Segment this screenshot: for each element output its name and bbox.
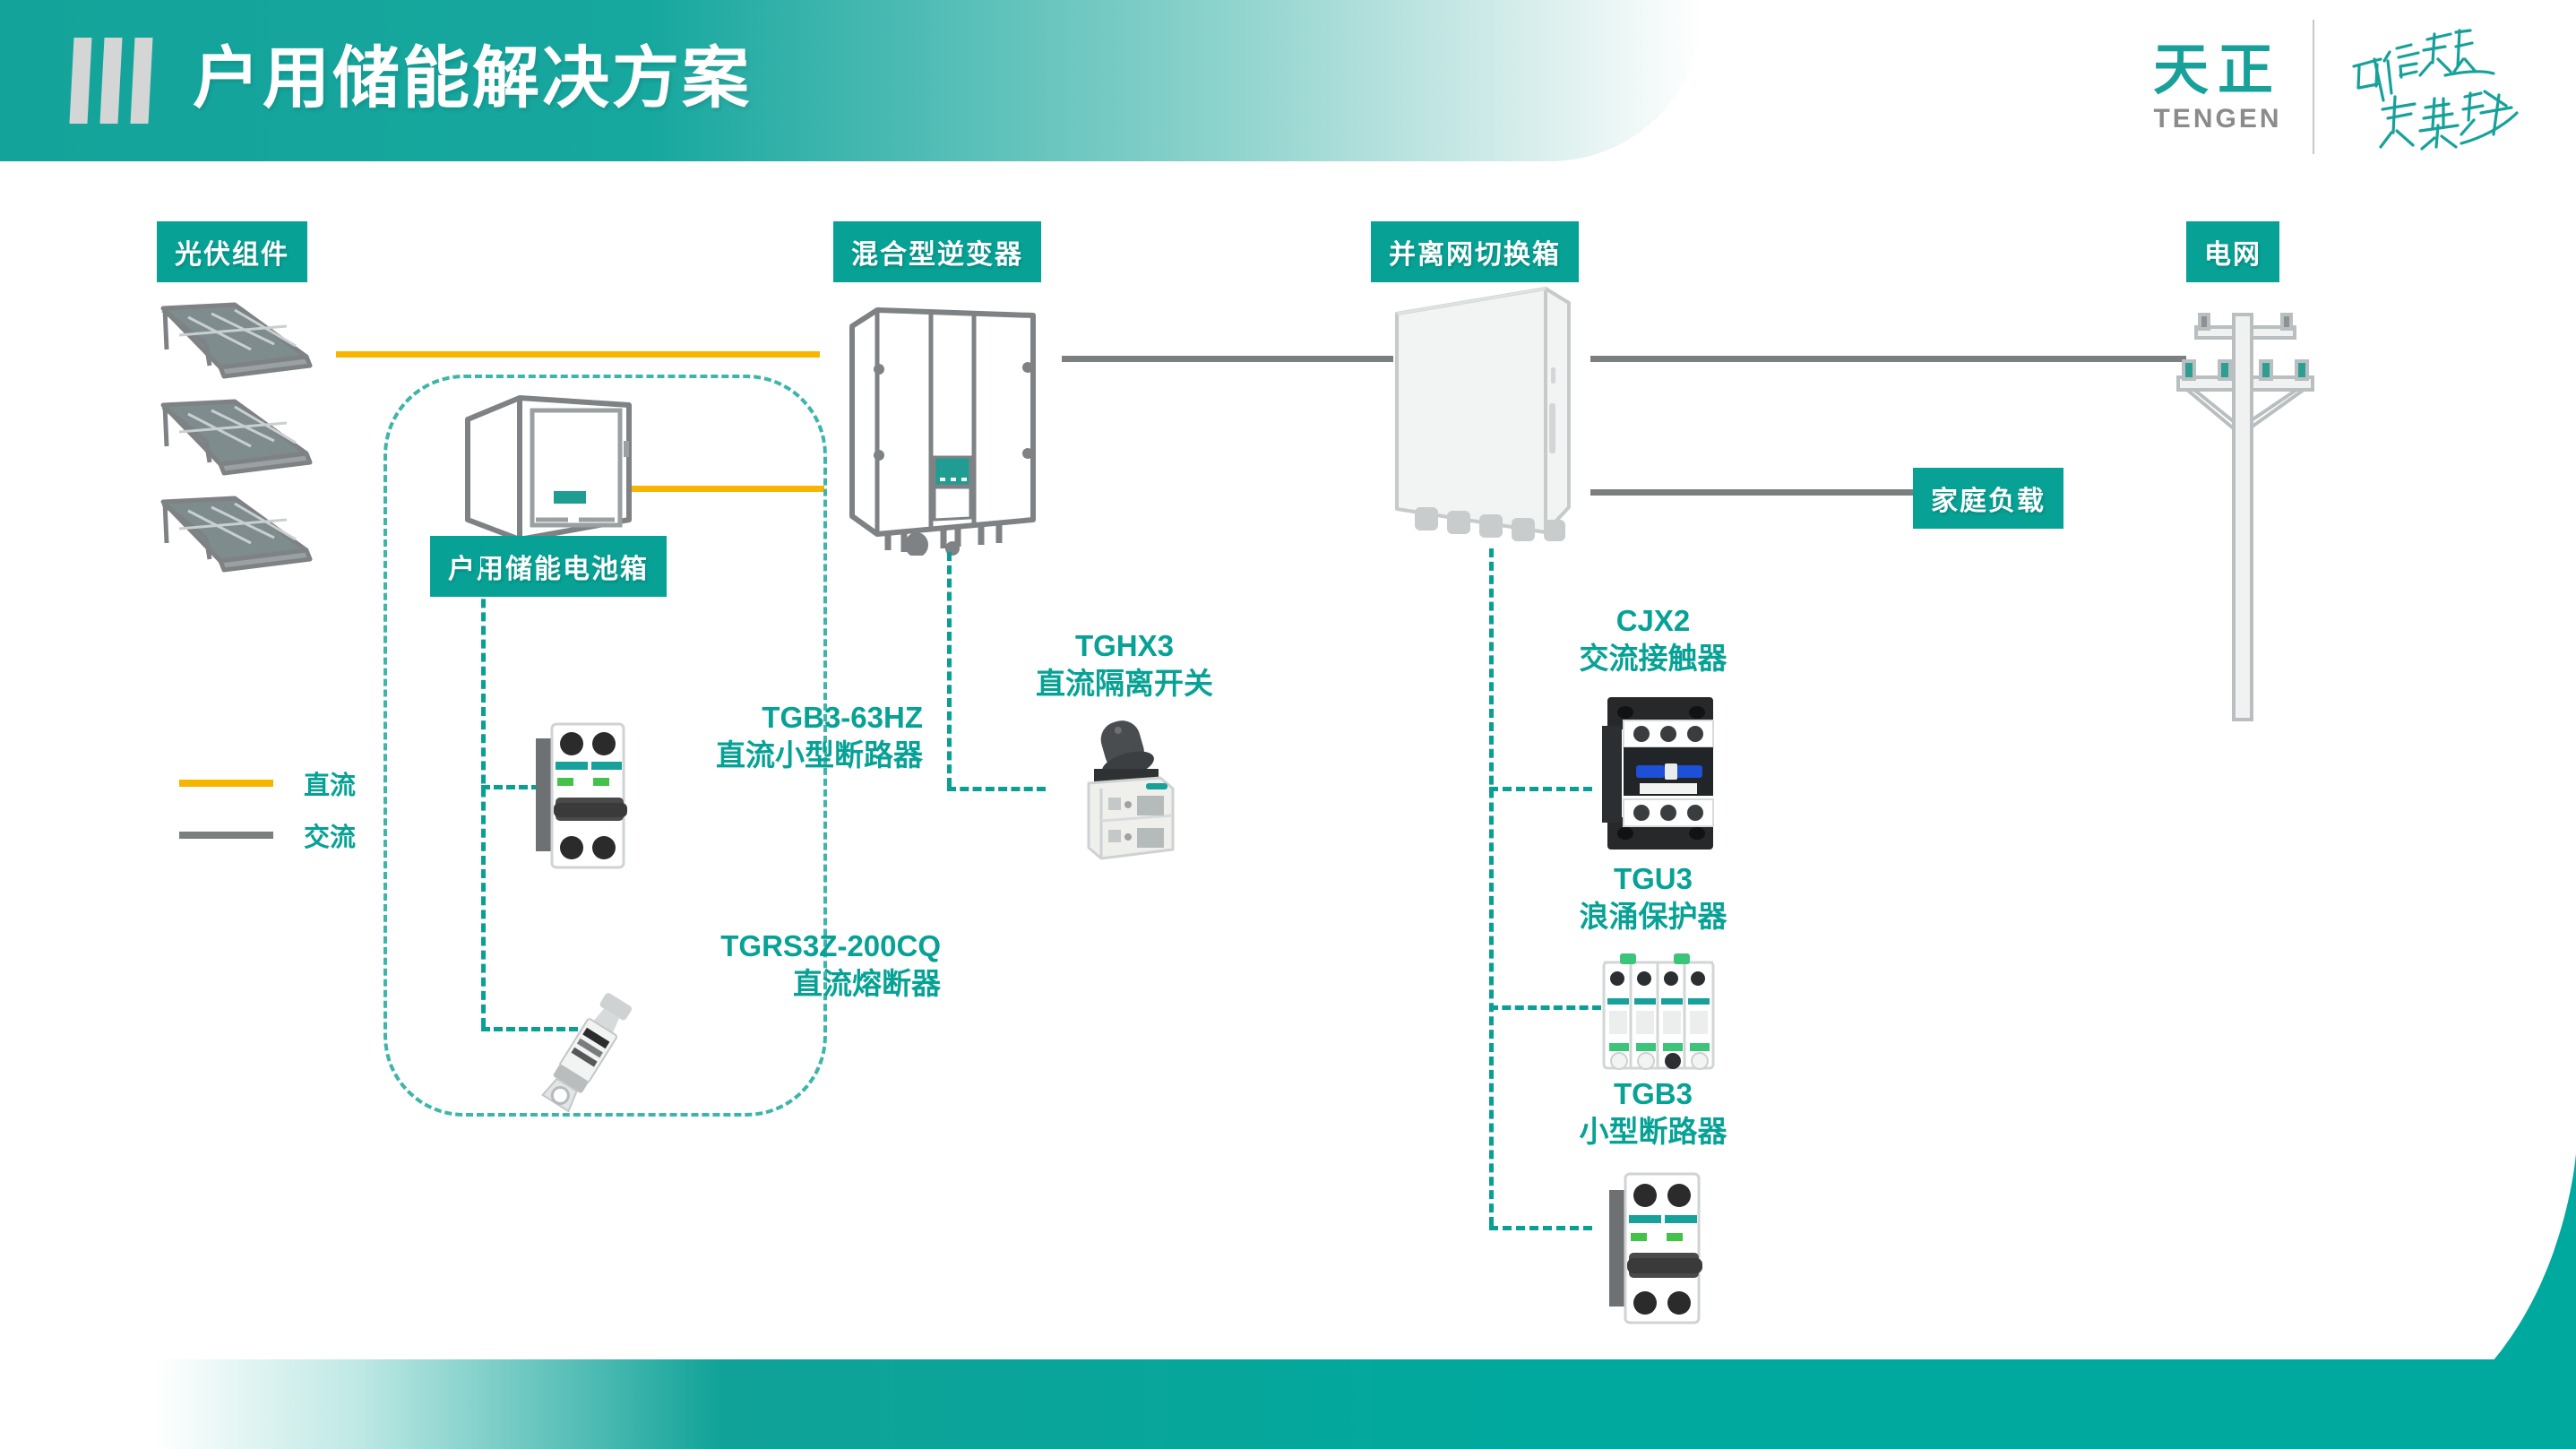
dc-line-pv-to-battery bbox=[336, 351, 820, 358]
switchbox-branch-tgu3 bbox=[1489, 1005, 1601, 1010]
ac-contactor-icon bbox=[1586, 690, 1729, 856]
stage-label-inverter: 混合型逆变器 bbox=[833, 221, 1041, 282]
ac-line-switchbox-to-load bbox=[1590, 489, 1913, 496]
component-tghx3: TGHX3 直流隔离开关 bbox=[977, 627, 1272, 703]
component-name-tgu3: 浪涌保护器 bbox=[1505, 898, 1801, 936]
legend-label-ac: 交流 bbox=[304, 816, 356, 854]
footer-curve-decoration bbox=[2307, 1153, 2576, 1449]
utility-pole-icon bbox=[2164, 291, 2325, 721]
page-title: 户用储能解决方案 bbox=[193, 29, 752, 127]
dc-fuse-icon bbox=[529, 981, 645, 1125]
legend: 直流 交流 bbox=[179, 757, 356, 861]
mcb-dc-icon bbox=[529, 715, 634, 876]
three-bars-icon bbox=[72, 38, 151, 124]
component-tgu3: TGU3 浪涌保护器 bbox=[1505, 860, 1801, 936]
inverter-branch-trunk bbox=[947, 552, 952, 787]
switchbox-branch-trunk bbox=[1489, 548, 1494, 1226]
legend-item-ac: 交流 bbox=[179, 809, 356, 861]
stage-label-load: 家庭负载 bbox=[1913, 468, 2063, 529]
component-model-cjx2: CJX2 bbox=[1505, 602, 1801, 640]
battery-cabinet-icon bbox=[457, 385, 636, 547]
component-name-cjx2: 交流接触器 bbox=[1505, 640, 1801, 677]
component-tgb3: TGB3 小型断路器 bbox=[1505, 1075, 1801, 1151]
logo-lockup: 天正 TENGEN bbox=[2153, 39, 2282, 134]
stage-label-grid: 电网 bbox=[2186, 221, 2279, 282]
component-model-tghx3: TGHX3 bbox=[977, 627, 1272, 665]
switchbox-branch-cjx2 bbox=[1489, 787, 1592, 791]
stage-label-switchbox: 并离网切换箱 bbox=[1371, 221, 1579, 282]
component-model-tgb3: TGB3 bbox=[1505, 1075, 1801, 1113]
legend-label-dc: 直流 bbox=[304, 764, 356, 802]
legend-swatch-dc bbox=[179, 780, 273, 787]
component-name-tghx3: 直流隔离开关 bbox=[977, 665, 1272, 703]
brand-logo: 天正 TENGEN bbox=[2153, 20, 2524, 154]
logo-divider bbox=[2313, 20, 2314, 154]
inverter-branch-tghx3 bbox=[947, 787, 1046, 791]
stage-label-battery: 户用储能电池箱 bbox=[430, 536, 667, 597]
brand-name-en: TENGEN bbox=[2153, 104, 2281, 134]
page-header: 户用储能解决方案 bbox=[0, 0, 1702, 161]
mcb-icon bbox=[1602, 1163, 1708, 1333]
component-model-tgu3: TGU3 bbox=[1505, 860, 1801, 898]
ac-line-switchbox-to-grid bbox=[1590, 356, 2186, 362]
solar-panel-icon bbox=[152, 296, 340, 582]
dc-isolator-switch-icon bbox=[1062, 713, 1187, 866]
component-cjx2: CJX2 交流接触器 bbox=[1505, 602, 1801, 677]
legend-item-dc: 直流 bbox=[179, 757, 356, 809]
hybrid-inverter-icon bbox=[838, 296, 1053, 556]
component-name-tgb3: 小型断路器 bbox=[1505, 1113, 1801, 1151]
legend-swatch-ac bbox=[179, 832, 273, 839]
brand-name-cn: 天正 bbox=[2153, 39, 2282, 102]
component-name-tgb3-63hz: 直流小型断路器 bbox=[636, 737, 923, 774]
footer-band bbox=[0, 1359, 2576, 1449]
ac-line-inverter-to-switchbox bbox=[1062, 356, 1393, 362]
component-name-tgrs3z-200cq: 直流熔断器 bbox=[529, 965, 941, 1003]
switching-cabinet-icon bbox=[1384, 278, 1590, 556]
stage-label-pv: 光伏组件 bbox=[157, 221, 307, 282]
component-model-tgb3-63hz: TGB3-63HZ bbox=[636, 699, 923, 737]
brand-slogan-handwriting-icon bbox=[2345, 20, 2524, 154]
surge-protector-icon bbox=[1595, 946, 1720, 1081]
switchbox-branch-tgb3 bbox=[1489, 1226, 1592, 1230]
component-model-tgrs3z-200cq: TGRS3Z-200CQ bbox=[529, 927, 941, 965]
